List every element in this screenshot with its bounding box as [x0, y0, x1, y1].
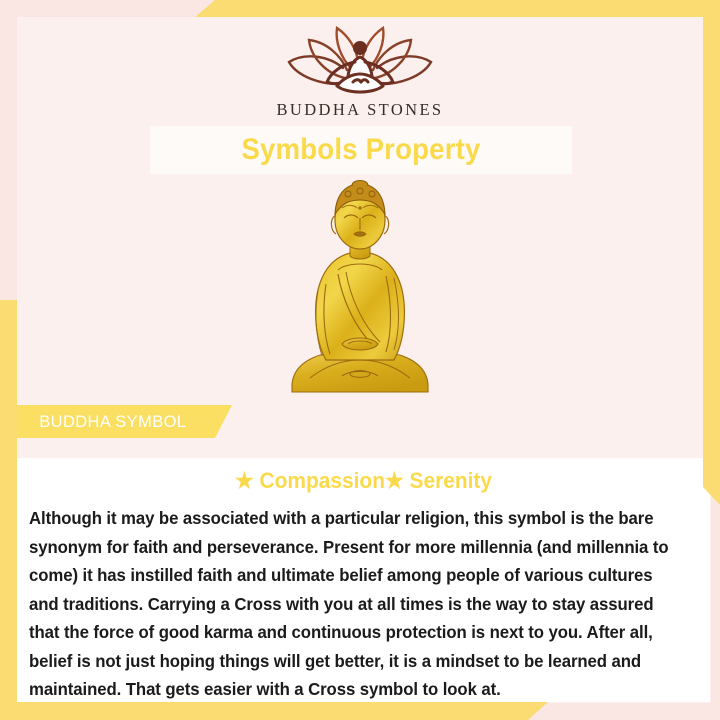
title-banner: Symbols Property [150, 126, 572, 174]
golden-seated-buddha-illustration [280, 178, 440, 400]
brand-logo: BUDDHA STONES [0, 24, 720, 120]
frame-band-top [195, 0, 720, 17]
brand-name: BUDDHA STONES [0, 100, 720, 120]
frame-band-left [0, 300, 17, 720]
hero-image [0, 178, 720, 400]
frame-band-right [703, 0, 720, 505]
page-title: Symbols Property [241, 133, 480, 167]
section-subheading: ★ Compassion★ Serenity [34, 468, 692, 494]
poster-canvas: BUDDHA STONES Symbols Property [0, 0, 720, 720]
section-body-text: Although it may be associated with a par… [29, 504, 675, 704]
buddha-symbol-tag: BUDDHA SYMBOL [17, 405, 232, 438]
description-card: ★ Compassion★ Serenity Although it may b… [17, 458, 710, 702]
lotus-meditation-icon [275, 24, 445, 98]
frame-band-bottom [0, 702, 548, 720]
tag-label: BUDDHA SYMBOL [39, 412, 186, 432]
